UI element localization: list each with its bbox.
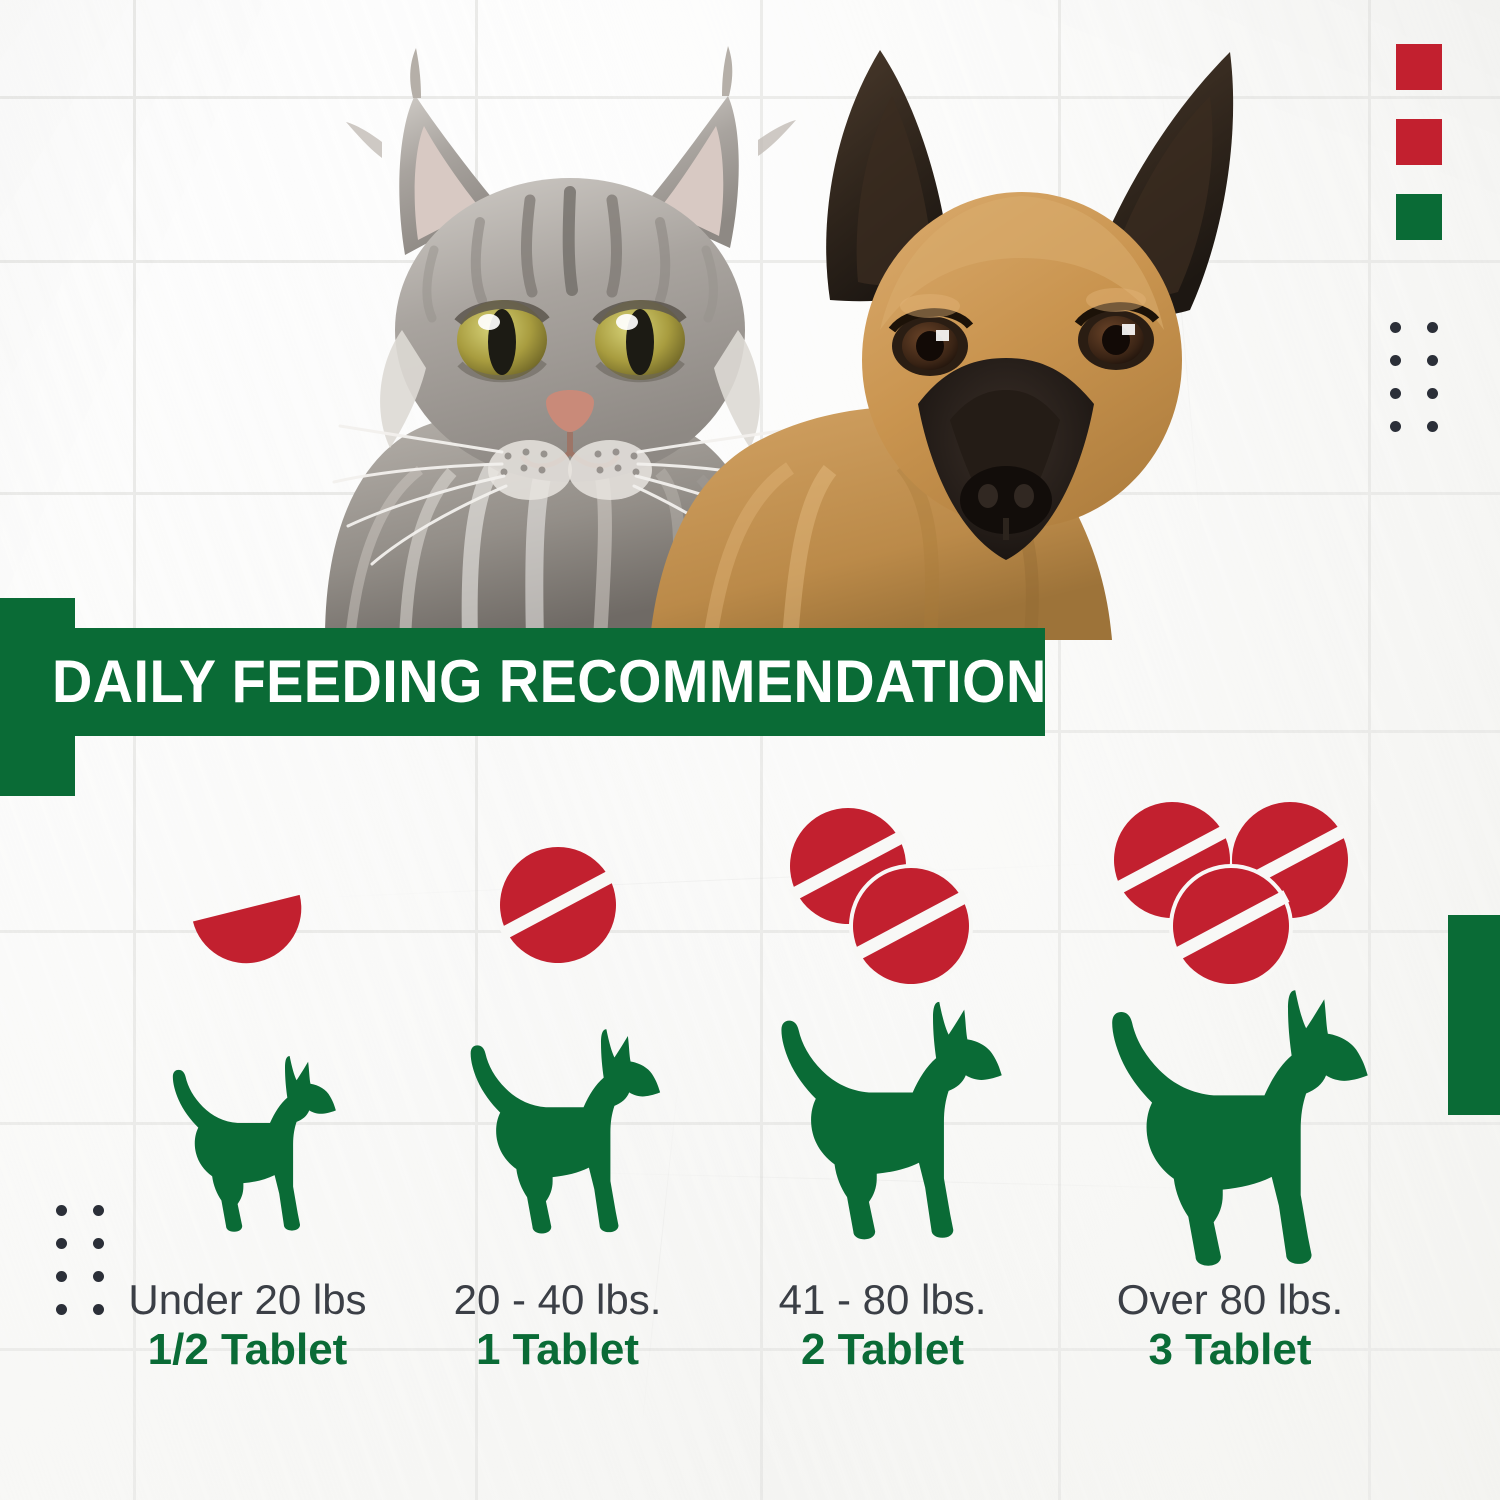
dog-silhouette-0 [155,1040,340,1235]
dosage-label-1: 20 - 40 lbs. 1 Tablet [390,1278,725,1374]
page-title: DAILY FEEDING RECOMMENDATION [52,652,1047,712]
decor-square-red-2 [1396,119,1442,165]
decor-square-red-1 [1396,44,1442,90]
dosage-column-2: 41 - 80 lbs. 2 Tablet [715,790,1050,1450]
dog-silhouette-icon [450,1012,665,1241]
dose-label-3: 3 Tablet [1040,1326,1420,1374]
title-banner: DAILY FEEDING RECOMMENDATION [0,628,1045,736]
decor-green-side-bar [1448,915,1500,1115]
dosage-columns: Under 20 lbs 1/2 Tablet 20 - 40 [80,790,1420,1450]
two-tablets-icon [778,804,988,999]
dosage-column-3: Over 80 lbs. 3 Tablet [1040,790,1420,1450]
cat-eye-left [457,300,547,380]
weight-label-3: Over 80 lbs. [1040,1278,1420,1322]
dog-silhouette-2 [758,982,1008,1242]
weight-label-2: 41 - 80 lbs. [715,1278,1050,1322]
dose-label-2: 2 Tablet [715,1326,1050,1374]
dose-label-0: 1/2 Tablet [80,1326,415,1374]
weight-label-0: Under 20 lbs [80,1278,415,1322]
dosage-label-2: 41 - 80 lbs. 2 Tablet [715,1278,1050,1374]
dog-silhouette-icon [155,1040,340,1240]
infographic-root: DAILY FEEDING RECOMMENDATION Under 20 lb… [0,0,1500,1500]
half-tablet-icon [183,860,313,975]
dot-grid-right [1390,322,1450,432]
dog-silhouette-1 [450,1012,665,1236]
dog-silhouette-icon [758,982,1008,1247]
cat-eye-right [595,300,685,380]
dose-label-1: 1 Tablet [390,1326,725,1374]
hero-photo-group [230,0,1340,640]
pets-photo-illustration [230,0,1340,640]
dog-silhouette-icon [1085,968,1375,1273]
weight-label-1: 20 - 40 lbs. [390,1278,725,1322]
decor-square-green-1 [1396,194,1442,240]
one-tablet-icon [493,840,623,975]
dog-silhouette-3 [1085,968,1375,1268]
dosage-column-0: Under 20 lbs 1/2 Tablet [80,790,415,1450]
dosage-label-0: Under 20 lbs 1/2 Tablet [80,1278,415,1374]
dosage-label-3: Over 80 lbs. 3 Tablet [1040,1278,1420,1374]
dosage-column-1: 20 - 40 lbs. 1 Tablet [390,790,725,1450]
